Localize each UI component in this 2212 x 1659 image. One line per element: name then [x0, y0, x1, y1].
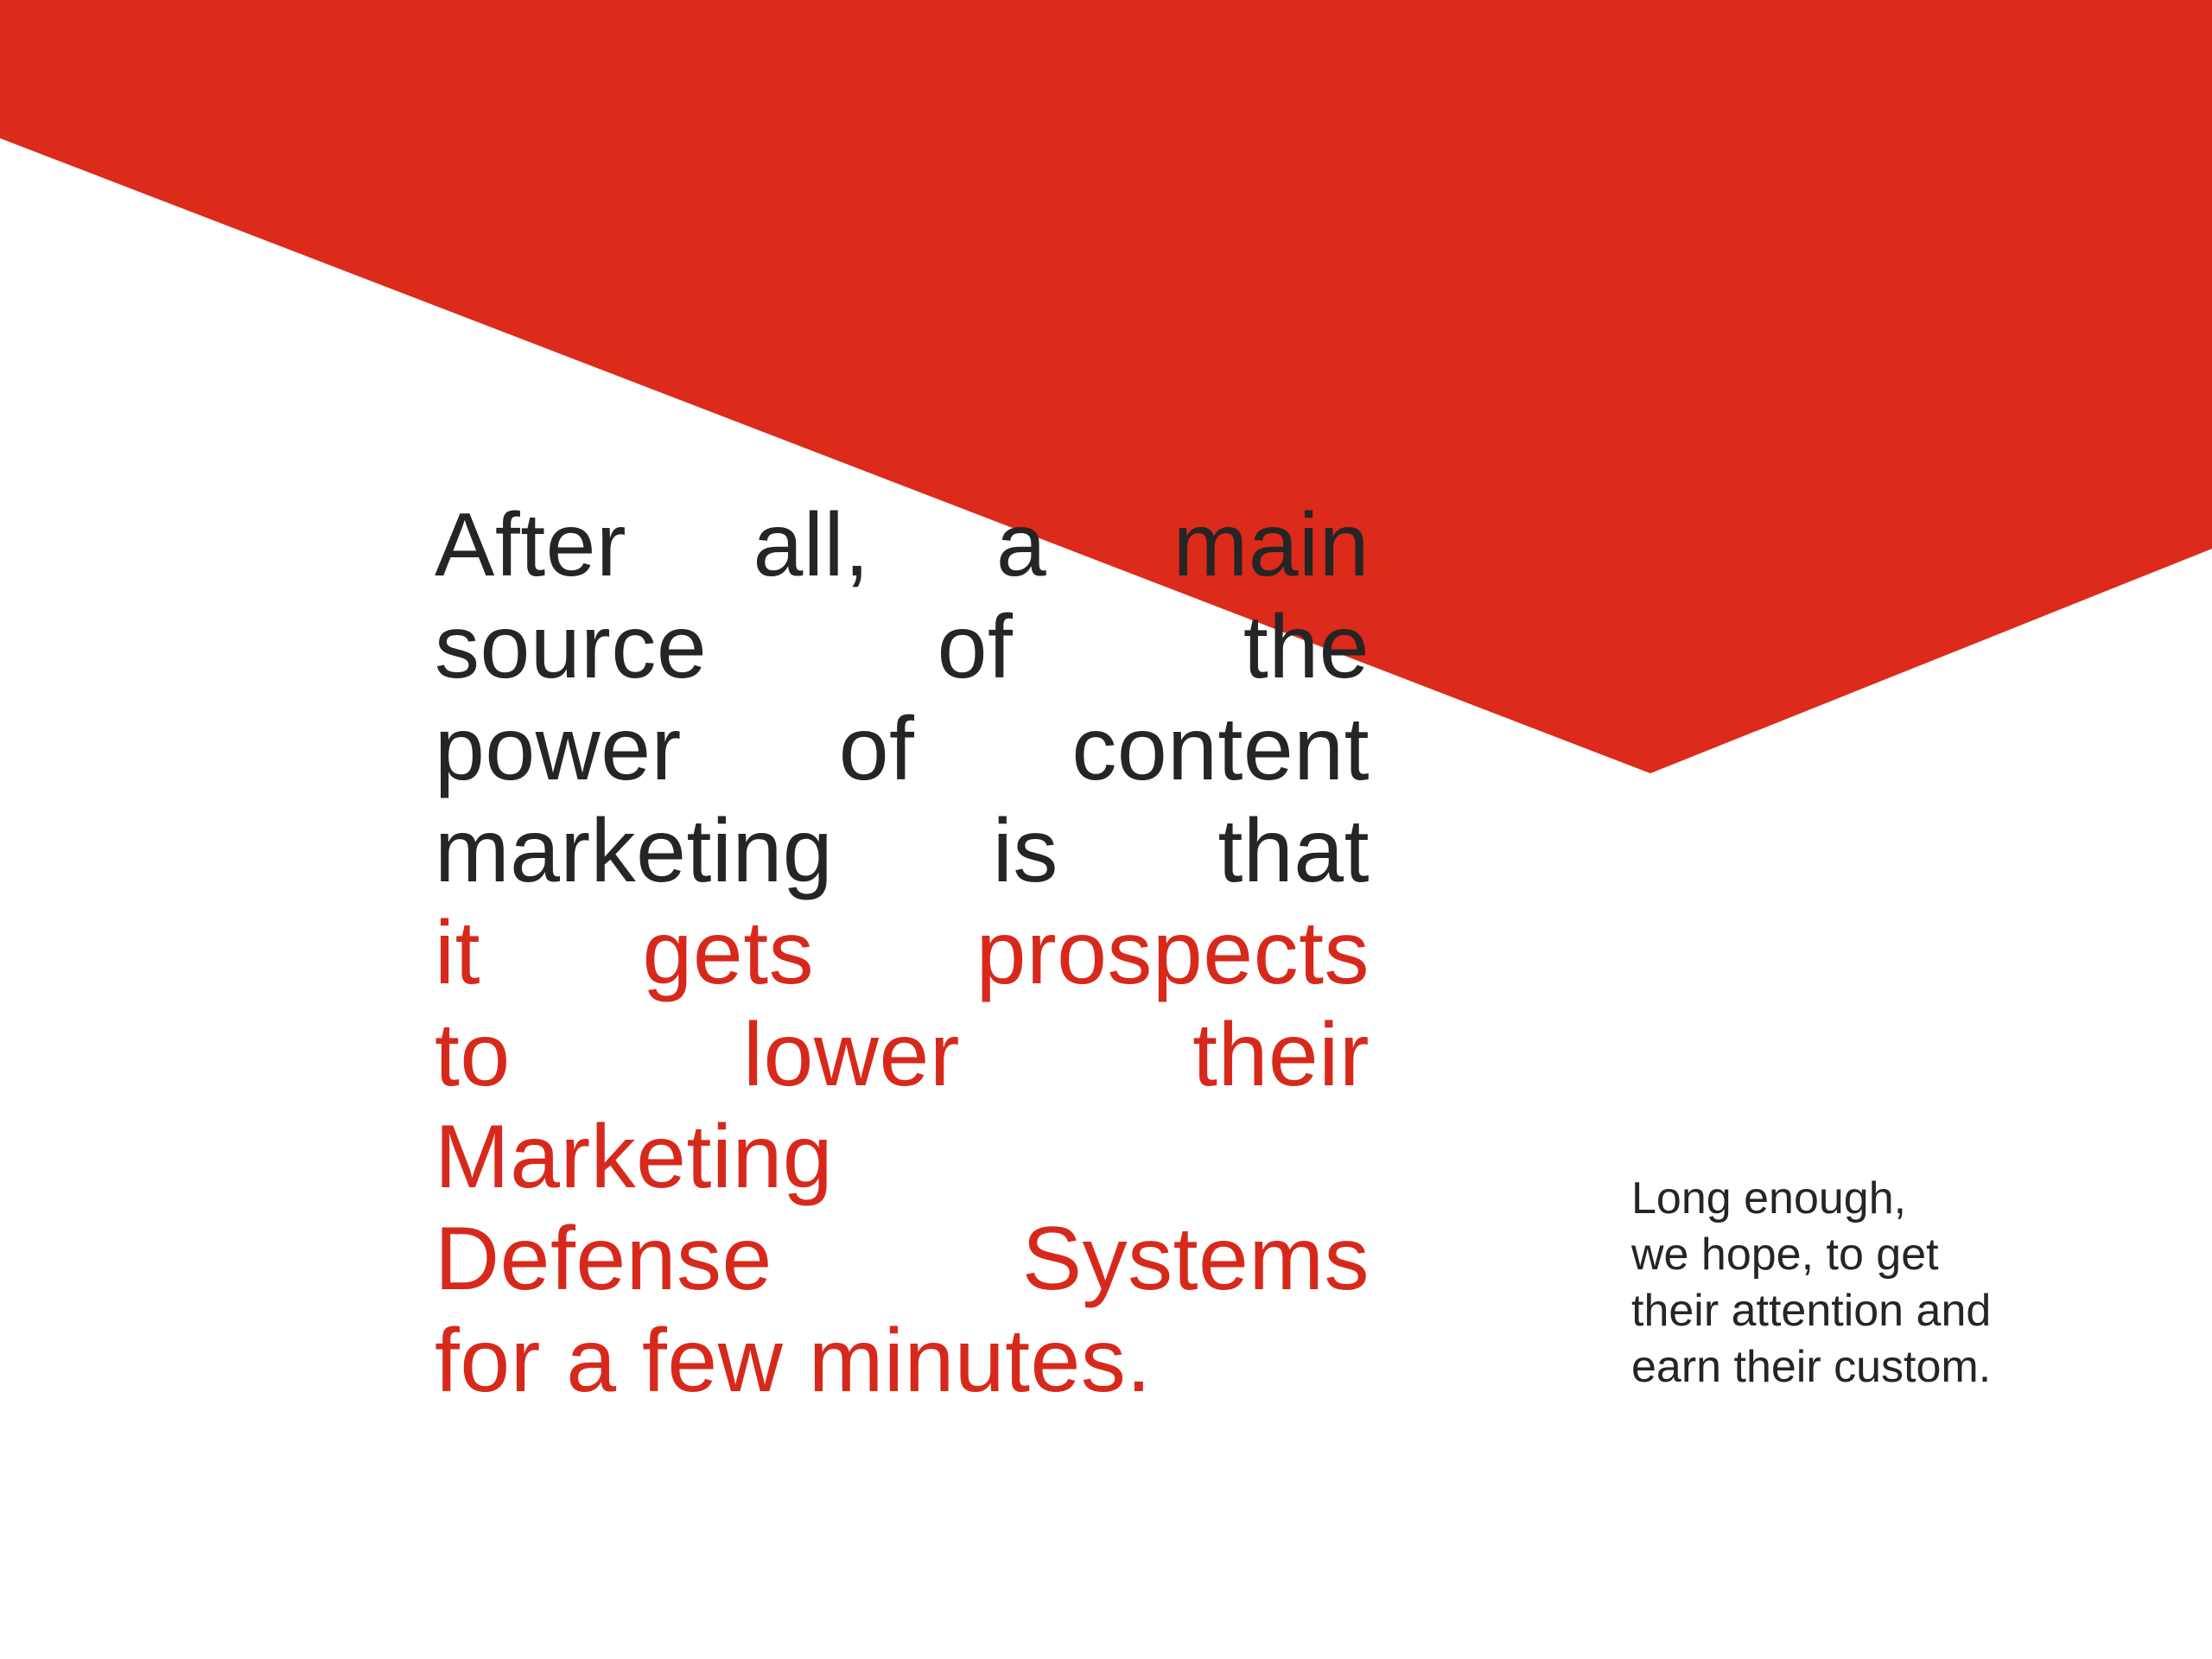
quote-word: lower	[743, 1004, 960, 1106]
quote-line-5: it gets prospects	[435, 902, 1370, 1004]
quote-block: After all, a main source of the power of…	[435, 494, 1370, 1412]
quote-word: main	[1173, 494, 1370, 596]
quote-line-7: Marketing	[435, 1106, 1370, 1208]
note-line-3: their attention and	[1631, 1283, 2184, 1339]
quote-line-2: source of the	[435, 596, 1370, 698]
quote-word: Defense	[435, 1208, 772, 1310]
quote-word: to	[435, 1004, 511, 1106]
quote-line-8: Defense Systems	[435, 1208, 1370, 1310]
quote-word: the	[1243, 596, 1370, 698]
quote-word: marketing	[435, 800, 833, 902]
quote-word: that	[1218, 800, 1370, 902]
quote-line-3: power of content	[435, 698, 1370, 800]
quote-word: their	[1192, 1004, 1370, 1106]
quote-word: source	[435, 596, 707, 698]
quote-word: gets	[643, 902, 815, 1004]
quote-word: After	[435, 494, 626, 596]
quote-line-4: marketing is that	[435, 800, 1370, 902]
quote-word: a	[996, 494, 1046, 596]
quote-word: of	[938, 596, 1014, 698]
note-line-4: earn their custom.	[1631, 1339, 2184, 1395]
quote-word: is	[993, 800, 1058, 902]
quote-word: content	[1071, 698, 1370, 800]
quote-word: of	[839, 698, 915, 800]
quote-line-1: After all, a main	[435, 494, 1370, 596]
quote-word: all,	[753, 494, 870, 596]
quote-line-9: for a few minutes.	[435, 1310, 1370, 1412]
quote-word: power	[435, 698, 682, 800]
quote-word: Systems	[1022, 1208, 1370, 1310]
note-line-2: we hope, to get	[1631, 1227, 2184, 1283]
quote-word: prospects	[976, 902, 1370, 1004]
slide-canvas: After all, a main source of the power of…	[0, 0, 2212, 1659]
quote-line-6: to lower their	[435, 1004, 1370, 1106]
note-block: Long enough, we hope, to get their atten…	[1631, 1171, 2184, 1395]
quote-word: it	[435, 902, 480, 1004]
note-line-1: Long enough,	[1631, 1171, 2184, 1227]
